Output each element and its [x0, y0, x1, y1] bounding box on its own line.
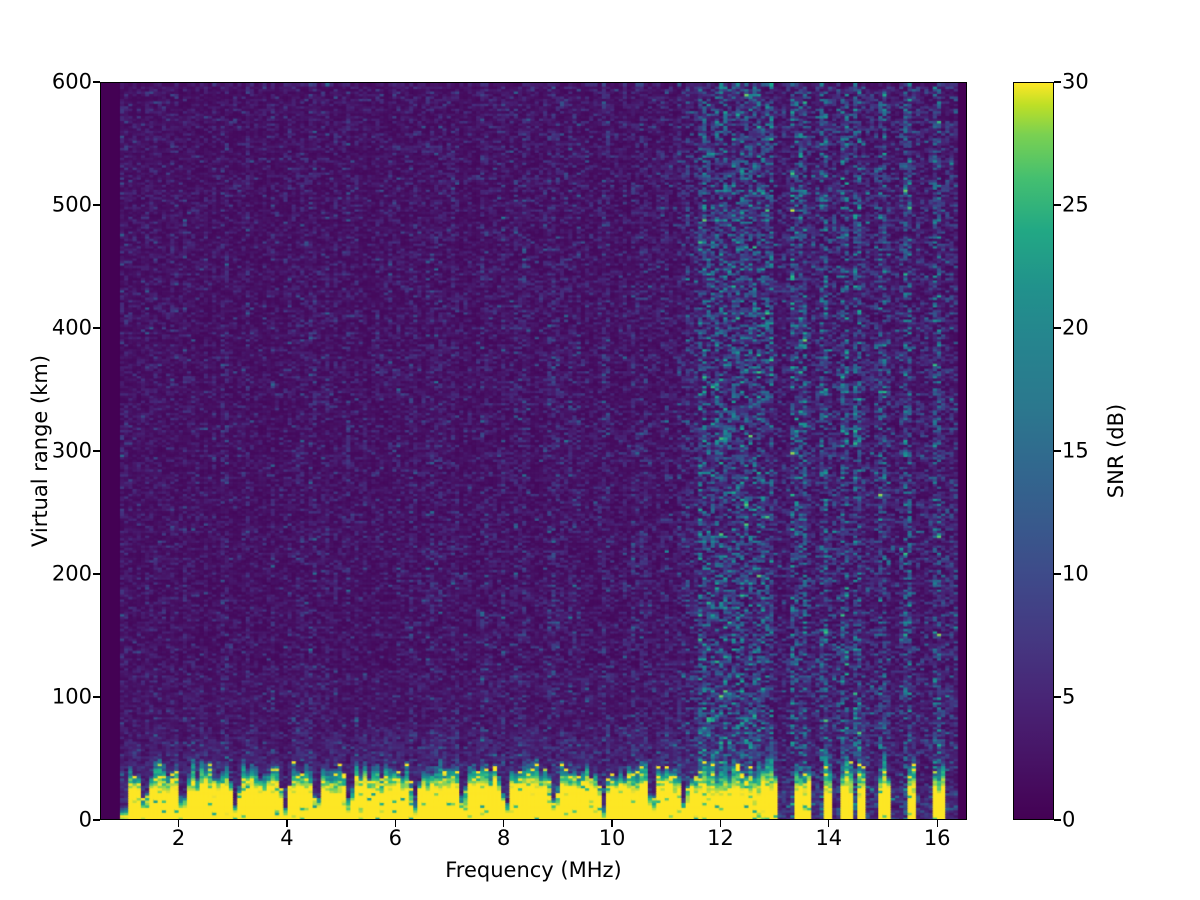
y-tick-mark: [93, 573, 100, 574]
x-tick-label: 2: [172, 828, 185, 849]
colorbar-tick-label: 20: [1062, 318, 1089, 339]
x-tick-mark: [395, 820, 396, 827]
x-tick-mark: [611, 820, 612, 827]
ionogram-heatmap-canvas: [101, 83, 966, 819]
colorbar-tick-label: 10: [1062, 564, 1089, 585]
x-tick-mark: [286, 820, 287, 827]
x-tick-mark: [503, 820, 504, 827]
colorbar-tick-label: 5: [1062, 687, 1075, 708]
colorbar-tick-mark: [1054, 573, 1061, 574]
x-tick-label: 10: [599, 828, 626, 849]
colorbar-tick-mark: [1054, 450, 1061, 451]
y-tick-mark: [93, 819, 100, 820]
y-tick-label: 100: [52, 687, 92, 708]
ionogram-figure: IRF Kiruna Ionosonde KI167 2025-11-01 17…: [0, 0, 1200, 900]
y-tick-label: 600: [52, 72, 92, 93]
x-tick-mark: [937, 820, 938, 827]
heatmap-plot-area: [100, 82, 967, 820]
x-tick-mark: [828, 820, 829, 827]
y-tick-mark: [93, 450, 100, 451]
colorbar-tick-mark: [1054, 696, 1061, 697]
colorbar-tick-label: 30: [1062, 72, 1089, 93]
x-tick-label: 4: [280, 828, 293, 849]
colorbar-tick-label: 0: [1062, 810, 1075, 831]
colorbar-tick-mark: [1054, 81, 1061, 82]
y-tick-label: 300: [52, 441, 92, 462]
x-tick-label: 12: [707, 828, 734, 849]
y-tick-mark: [93, 327, 100, 328]
x-tick-label: 6: [389, 828, 402, 849]
x-axis-label: Frequency (MHz): [100, 858, 967, 882]
y-tick-label: 0: [79, 810, 92, 831]
x-tick-label: 14: [815, 828, 842, 849]
x-tick-label: 16: [924, 828, 951, 849]
y-tick-mark: [93, 696, 100, 697]
colorbar-tick-label: 15: [1062, 441, 1089, 462]
colorbar-tick-mark: [1054, 204, 1061, 205]
y-tick-mark: [93, 81, 100, 82]
colorbar-tick-mark: [1054, 819, 1061, 820]
colorbar: [1013, 82, 1054, 820]
y-tick-label: 500: [52, 195, 92, 216]
colorbar-tick-label: 25: [1062, 195, 1089, 216]
y-tick-label: 200: [52, 564, 92, 585]
colorbar-label: SNR (dB): [1104, 404, 1128, 498]
colorbar-tick-mark: [1054, 327, 1061, 328]
x-tick-label: 8: [497, 828, 510, 849]
y-tick-label: 400: [52, 318, 92, 339]
y-axis-label: Virtual range (km): [28, 355, 52, 547]
y-tick-mark: [93, 204, 100, 205]
x-tick-mark: [178, 820, 179, 827]
x-tick-mark: [720, 820, 721, 827]
